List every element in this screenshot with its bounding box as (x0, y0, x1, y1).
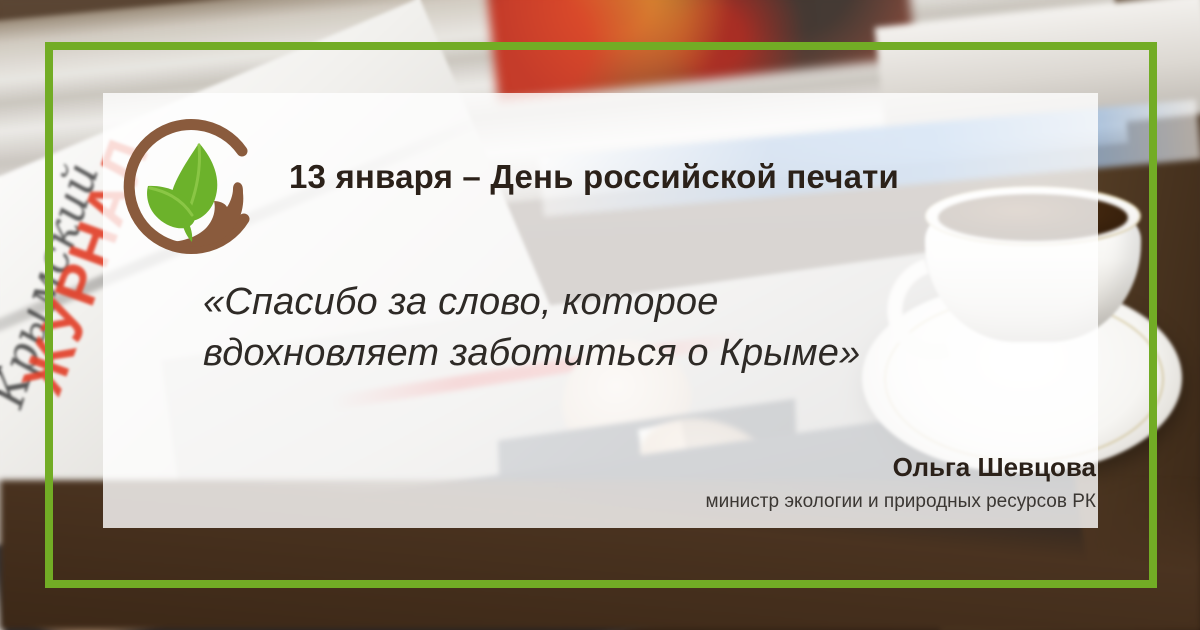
leaf-in-hand-logo (115, 115, 265, 265)
page-title: 13 января – День российской печати (289, 158, 1089, 196)
author-name: Ольга Шевцова (893, 452, 1096, 483)
author-role: министр экологии и природных ресурсов РК (706, 491, 1096, 513)
quote-text: «Спасибо за слово, которое вдохновляет з… (203, 277, 1013, 379)
quote-line-1: «Спасибо за слово, которое (203, 277, 1013, 328)
quote-line-2: вдохновляет заботиться о Крыме» (203, 328, 1013, 379)
poster-canvas: Крымский ЖУРНАЛ (0, 0, 1200, 630)
